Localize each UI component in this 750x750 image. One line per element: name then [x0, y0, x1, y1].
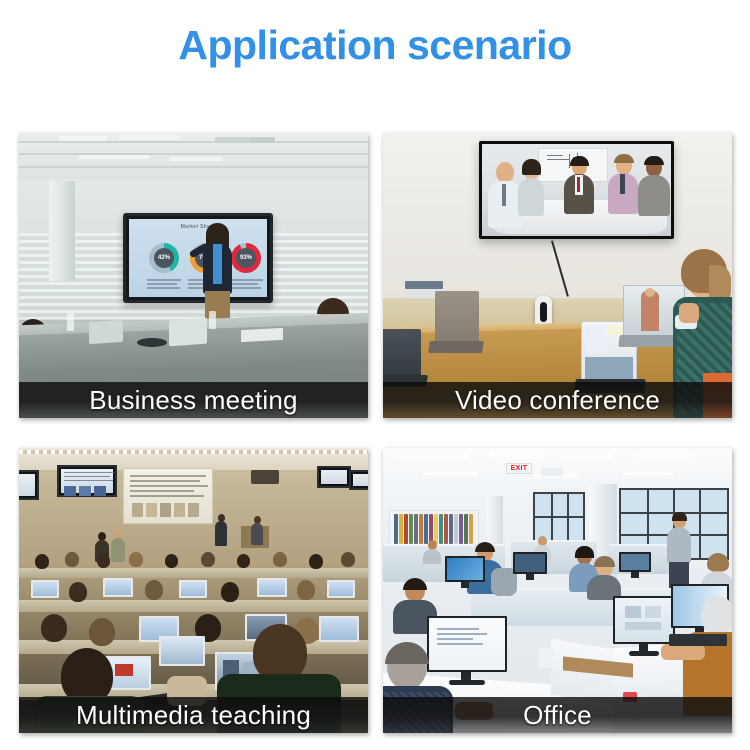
glass: [67, 313, 74, 331]
monitor: [619, 552, 651, 578]
side-display: [349, 470, 368, 490]
scenario-card-business-meeting[interactable]: Market Share 42% 79% 93%: [19, 133, 368, 418]
remote-participant: [564, 158, 594, 214]
projector: [251, 470, 279, 484]
ceiling-panel: [59, 136, 107, 141]
presentation-display: Market Share 42% 79% 93%: [123, 213, 273, 303]
caption-bar: Video conference: [383, 382, 732, 418]
photo-business-meeting: Market Share 42% 79% 93%: [19, 133, 368, 418]
presenter: [251, 516, 263, 544]
remote-participant: [638, 158, 670, 216]
projection-screen: [123, 468, 213, 524]
page-title: Application scenario: [0, 22, 750, 69]
donut-value: 42%: [154, 248, 174, 268]
side-display: [19, 470, 39, 500]
presenter: [201, 225, 235, 333]
keyboard: [669, 634, 727, 646]
slide-title: Market Share: [129, 224, 267, 230]
scenario-grid: Market Share 42% 79% 93%: [19, 133, 732, 733]
laptop: [103, 578, 133, 597]
scenario-card-video-conference[interactable]: Video conference: [383, 133, 732, 418]
exit-sign: EXIT: [506, 463, 532, 474]
caption-bar: Multimedia teaching: [19, 697, 368, 733]
laptop: [383, 329, 425, 387]
monitor: [445, 556, 485, 588]
ceiling-vent: [215, 137, 251, 143]
ceiling-line: [19, 141, 368, 143]
laptop: [327, 580, 355, 598]
remote-participant: [518, 160, 544, 216]
glass: [209, 311, 216, 329]
monitor: [513, 552, 547, 580]
display-screen: [61, 469, 113, 493]
books: [405, 281, 443, 289]
ceiling-line: [19, 153, 368, 155]
laptop: [169, 318, 207, 347]
side-display: [57, 465, 117, 497]
caption-label: Business meeting: [89, 385, 297, 416]
caption-bar: Office: [383, 697, 732, 733]
photo-multimedia-teaching: Multimedia teaching: [19, 448, 368, 733]
wall-display: [479, 141, 674, 239]
caption-bar: Business meeting: [19, 382, 368, 418]
photo-video-conference: Video conference: [383, 133, 732, 418]
laptop: [429, 291, 481, 353]
remote-participant: [608, 156, 638, 214]
camera-lens: [540, 302, 547, 322]
display-screen: Market Share 42% 79% 93%: [129, 219, 267, 297]
donut-value: 93%: [236, 248, 256, 268]
ceiling-panel: [119, 135, 179, 140]
window: [533, 492, 585, 542]
pillar: [49, 181, 75, 281]
ceiling-light: [169, 157, 223, 161]
laptop: [159, 636, 205, 666]
donut-chart-42: 42%: [149, 243, 179, 273]
caption-label: Video conference: [455, 385, 660, 416]
caption-label: Office: [523, 700, 592, 731]
paper: [241, 328, 283, 342]
remote-participant: [488, 162, 522, 228]
speakerphone: [137, 338, 167, 347]
ceiling-light: [79, 155, 149, 159]
desk-item: [539, 648, 555, 668]
caption-label: Multimedia teaching: [76, 700, 311, 731]
ceiling-line: [19, 166, 368, 168]
display-screen: [482, 144, 671, 236]
office-worker: [423, 540, 441, 564]
presenter: [215, 514, 227, 546]
standing-worker: [667, 514, 691, 588]
scenario-card-multimedia-teaching[interactable]: Multimedia teaching: [19, 448, 368, 733]
hand: [661, 644, 705, 660]
ceiling-vent: [251, 137, 275, 143]
laptop: [179, 580, 207, 598]
photo-office: EXIT: [383, 448, 732, 733]
ceiling-strip: [19, 450, 368, 454]
office-worker: [587, 558, 621, 600]
donut-chart-93: 93%: [231, 243, 261, 273]
application-scenario-page: Application scenario: [0, 0, 750, 750]
laptop: [89, 320, 123, 344]
side-display: [317, 466, 351, 488]
laptop: [31, 580, 59, 598]
standing-student: [111, 530, 125, 562]
laptop: [257, 578, 287, 597]
scenario-card-office[interactable]: EXIT: [383, 448, 732, 733]
